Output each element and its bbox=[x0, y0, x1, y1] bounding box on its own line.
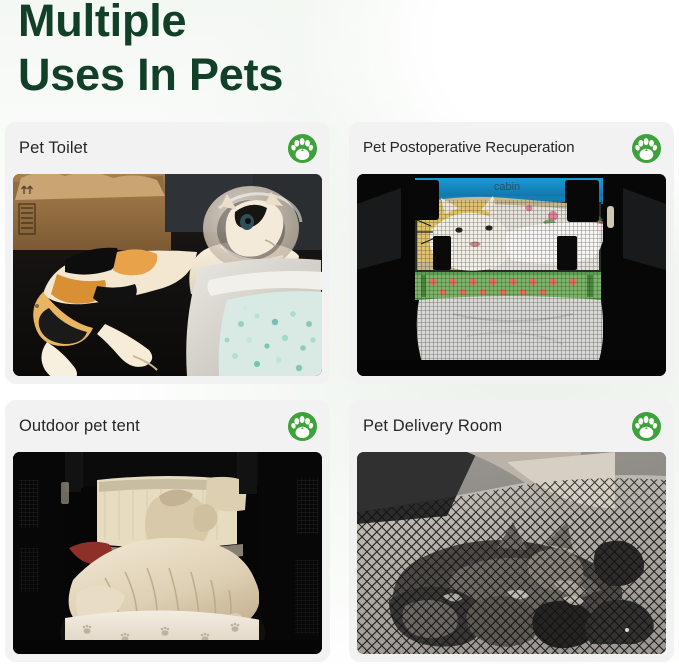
paw-icon bbox=[631, 133, 662, 164]
card-title: Outdoor pet tent bbox=[19, 416, 140, 436]
infographic-page: Multiple Uses In Pets Pet Toilet bbox=[0, 0, 679, 664]
card-photo bbox=[13, 174, 322, 376]
card-photo: cabin bbox=[357, 174, 666, 376]
paw-icon bbox=[287, 133, 318, 164]
card-title: Pet Postoperative Recuperation bbox=[363, 138, 574, 158]
card-header: Outdoor pet tent bbox=[5, 400, 330, 452]
card-photo bbox=[13, 452, 322, 654]
card-header: Pet Postoperative Recuperation bbox=[349, 122, 674, 174]
use-case-card-pet-delivery-room[interactable]: Pet Delivery Room bbox=[349, 400, 674, 662]
card-header: Pet Toilet bbox=[5, 122, 330, 174]
page-title: Multiple Uses In Pets bbox=[18, 0, 518, 102]
carrier-brand-text: cabin bbox=[494, 181, 520, 193]
card-photo bbox=[357, 452, 666, 654]
card-header: Pet Delivery Room bbox=[349, 400, 674, 452]
card-title: Pet Toilet bbox=[19, 138, 88, 158]
use-case-card-outdoor-pet-tent[interactable]: Outdoor pet tent bbox=[5, 400, 330, 662]
card-title: Pet Delivery Room bbox=[363, 416, 502, 436]
use-case-grid: Pet Toilet bbox=[5, 122, 674, 662]
use-case-card-pet-toilet[interactable]: Pet Toilet bbox=[5, 122, 330, 384]
paw-icon bbox=[631, 411, 662, 442]
paw-icon bbox=[287, 411, 318, 442]
use-case-card-pet-postoperative-recuperation[interactable]: Pet Postoperative Recuperation bbox=[349, 122, 674, 384]
